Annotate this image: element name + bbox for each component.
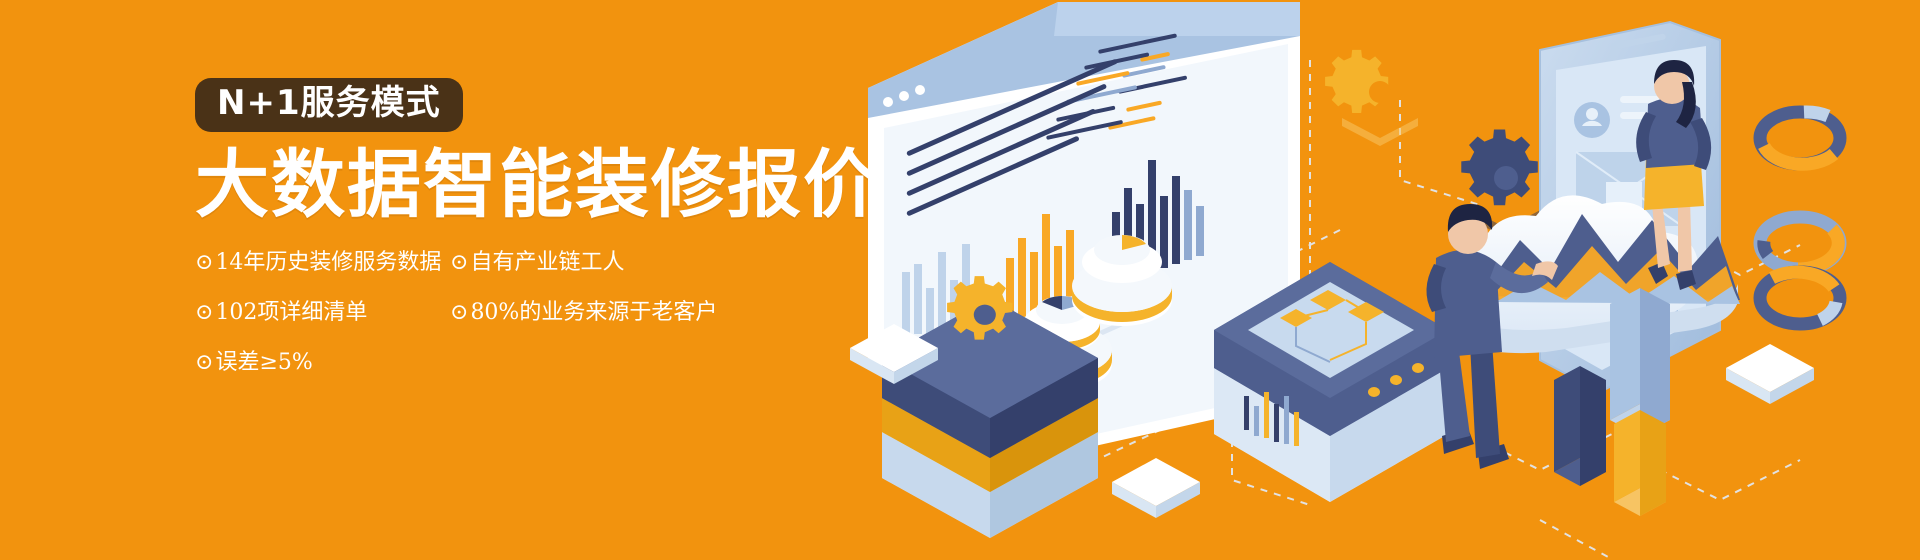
isometric-illustration bbox=[840, 0, 1920, 560]
list-item: ⊙自有产业链工人 bbox=[450, 252, 750, 274]
bullet-dot-icon: ⊙ bbox=[195, 302, 213, 324]
banner-text-block: N+1服务模式 大数据智能装修报价 ⊙14年历史装修服务数据 ⊙自有产业链工人 … bbox=[195, 78, 915, 402]
list-item-label: 自有产业链工人 bbox=[470, 250, 624, 275]
ring-1 bbox=[1760, 112, 1840, 164]
tile-2 bbox=[1112, 458, 1200, 518]
service-model-badge: N+1服务模式 bbox=[195, 78, 463, 132]
list-item: ⊙误差≥5% bbox=[195, 352, 450, 374]
feature-list: ⊙14年历史装修服务数据 ⊙自有产业链工人 ⊙102项详细清单 ⊙80%的业务来… bbox=[195, 252, 755, 402]
tile-3 bbox=[1726, 344, 1814, 404]
list-item: ⊙80%的业务来源于老客户 bbox=[450, 302, 750, 324]
list-item: ⊙102项详细清单 bbox=[195, 302, 450, 324]
ring-3 bbox=[1760, 272, 1840, 324]
list-item-label: 误差≥5% bbox=[215, 350, 312, 375]
ring-2 bbox=[1760, 217, 1840, 269]
promo-banner: N+1服务模式 大数据智能装修报价 ⊙14年历史装修服务数据 ⊙自有产业链工人 … bbox=[0, 0, 1920, 560]
gear-orange-icon bbox=[1325, 50, 1418, 146]
page-title: 大数据智能装修报价 bbox=[195, 146, 915, 226]
list-item-label: 80%的业务来源于老客户 bbox=[470, 300, 717, 325]
list-item: ⊙14年历史装修服务数据 bbox=[195, 252, 450, 274]
bullet-dot-icon: ⊙ bbox=[450, 252, 468, 274]
bullet-dot-icon: ⊙ bbox=[450, 302, 468, 324]
list-item-label: 14年历史装修服务数据 bbox=[215, 250, 441, 275]
list-item-label: 102项详细清单 bbox=[215, 300, 367, 325]
bullet-dot-icon: ⊙ bbox=[195, 352, 213, 374]
bullet-dot-icon: ⊙ bbox=[195, 252, 213, 274]
